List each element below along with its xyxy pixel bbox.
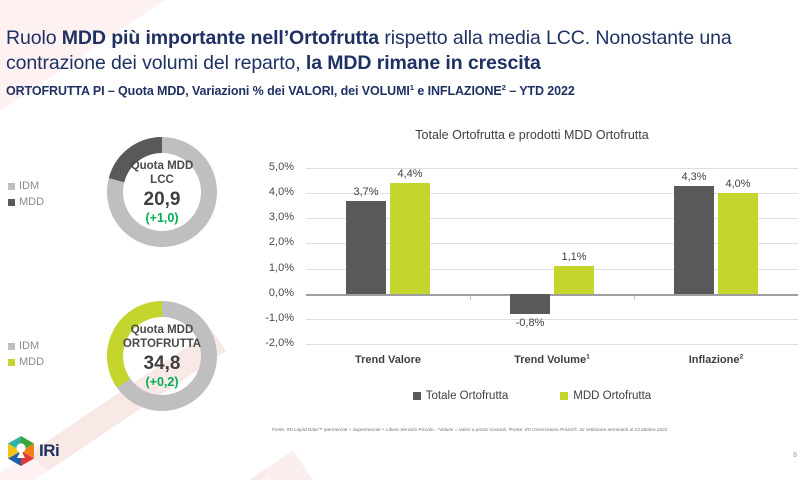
chart-axis-divider-tick — [634, 296, 635, 300]
chart-x-axis-tick-superscript: 1 — [586, 353, 590, 360]
chart-y-axis-tick: 3,0% — [234, 211, 294, 223]
donut-delta: (+0,2) — [145, 375, 178, 390]
donut-chart-lcc: Quota MDDLCC20,9(+1,0) — [102, 132, 222, 252]
chart-y-axis-tick: -1,0% — [234, 312, 294, 324]
chart-bar-value-label: 3,7% — [336, 186, 396, 198]
donut-legend-item-lcc-mdd: MDD — [8, 194, 44, 210]
subtitle-text-post: – YTD 2022 — [506, 84, 575, 98]
chart-y-axis-tick: -2,0% — [234, 337, 294, 349]
chart-bar — [346, 201, 386, 294]
donut-caption-line1: Quota MDD — [131, 159, 194, 173]
donut-value: 20,9 — [144, 188, 181, 211]
chart-x-axis-tick: Inflazione2 — [641, 354, 791, 366]
donut-caption-line1: Quota MDD — [131, 323, 194, 337]
logo-text: IRi — [39, 441, 59, 461]
page-title-run-1: MDD più importante nell’Ortofrutta — [62, 27, 379, 49]
page-number: 8 — [793, 452, 797, 459]
donut-legend-label: MDD — [19, 354, 44, 370]
chart-x-axis-tick-superscript: 2 — [739, 353, 743, 360]
chart-x-axis-tick-label: Trend Volume — [514, 354, 586, 366]
subtitle-text-mid: e INFLAZIONE — [414, 84, 502, 98]
chart-y-axis-tick: 5,0% — [234, 161, 294, 173]
chart-bar-value-label: -0,8% — [500, 317, 560, 329]
donut-center-labels-ortofrutta: Quota MDDORTOFRUTTA34,8(+0,2) — [102, 296, 222, 416]
chart-zero-axis — [306, 294, 798, 296]
legend-swatch-icon — [8, 343, 15, 350]
donut-delta: (+1,0) — [145, 211, 178, 226]
chart-y-axis-tick: 1,0% — [234, 262, 294, 274]
chart-bar — [674, 186, 714, 294]
donut-legend-label: MDD — [19, 194, 44, 210]
legend-swatch-icon — [8, 183, 15, 190]
chart-x-axis-tick-label: Inflazione — [689, 354, 740, 366]
donut-caption-line2: LCC — [150, 173, 174, 187]
chart-x-axis-tick-label: Trend Valore — [355, 354, 421, 366]
page-title-run-3: la MDD rimane in crescita — [306, 52, 541, 74]
chart-plot-area: 5,0%4,0%3,0%2,0%1,0%0,0%-1,0%-2,0%3,7%4,… — [306, 168, 798, 344]
chart-y-axis-tick: 4,0% — [234, 186, 294, 198]
legend-swatch-icon — [413, 392, 421, 400]
chart-legend: Totale OrtofruttaMDD Ortofrutta — [258, 390, 806, 402]
donut-legend-item-ortofrutta-idm: IDM — [8, 338, 44, 354]
chart-bar — [554, 266, 594, 294]
donut-legend-item-lcc-idm: IDM — [8, 178, 44, 194]
bar-chart: Totale Ortofrutta e prodotti MDD Ortofru… — [258, 128, 806, 373]
donut-legend-label: IDM — [19, 338, 39, 354]
donut-legend-ortofrutta: IDMMDD — [8, 338, 44, 370]
donut-legend-lcc: IDMMDD — [8, 178, 44, 210]
donut-caption-line2: ORTOFRUTTA — [123, 337, 201, 351]
chart-y-axis-tick: 2,0% — [234, 236, 294, 248]
chart-legend-item: Totale Ortofrutta — [413, 390, 508, 402]
source-footnote: Fonte: IRI Liquid Data™ Ipermercati + Su… — [272, 426, 806, 433]
chart-legend-label: Totale Ortofrutta — [426, 390, 508, 402]
chart-x-axis-tick: Trend Volume1 — [477, 354, 627, 366]
donut-legend-label: IDM — [19, 178, 39, 194]
legend-swatch-icon — [8, 359, 15, 366]
chart-gridline — [306, 344, 798, 345]
chart-bar-value-label: 4,0% — [708, 178, 768, 190]
donut-center-labels-lcc: Quota MDDLCC20,9(+1,0) — [102, 132, 222, 252]
chart-legend-item: MDD Ortofrutta — [560, 390, 651, 402]
chart-legend-label: MDD Ortofrutta — [573, 390, 651, 402]
page-title: Ruolo MDD più importante nell’Ortofrutta… — [6, 26, 796, 76]
chart-bar-value-label: 1,1% — [544, 251, 604, 263]
legend-swatch-icon — [8, 199, 15, 206]
chart-bar — [718, 193, 758, 294]
chart-y-axis-tick: 0,0% — [234, 287, 294, 299]
legend-swatch-icon — [560, 392, 568, 400]
page-subtitle: ORTOFRUTTA PI – Quota MDD, Variazioni % … — [6, 84, 796, 98]
chart-bar — [390, 183, 430, 294]
chart-axis-divider-tick — [470, 296, 471, 300]
chart-title: Totale Ortofrutta e prodotti MDD Ortofru… — [258, 128, 806, 142]
iri-logo: IRi — [8, 436, 59, 466]
chart-bar-value-label: 4,4% — [380, 168, 440, 180]
page-title-run-0: Ruolo — [6, 27, 62, 49]
subtitle-text-pre: ORTOFRUTTA PI – Quota MDD, Variazioni % … — [6, 84, 410, 98]
chart-bar — [510, 294, 550, 314]
donut-value: 34,8 — [144, 352, 181, 375]
donut-chart-ortofrutta: Quota MDDORTOFRUTTA34,8(+0,2) — [102, 296, 222, 416]
chart-x-axis-tick: Trend Valore — [313, 354, 463, 366]
hexagon-logo-icon — [8, 436, 34, 466]
donut-legend-item-ortofrutta-mdd: MDD — [8, 354, 44, 370]
